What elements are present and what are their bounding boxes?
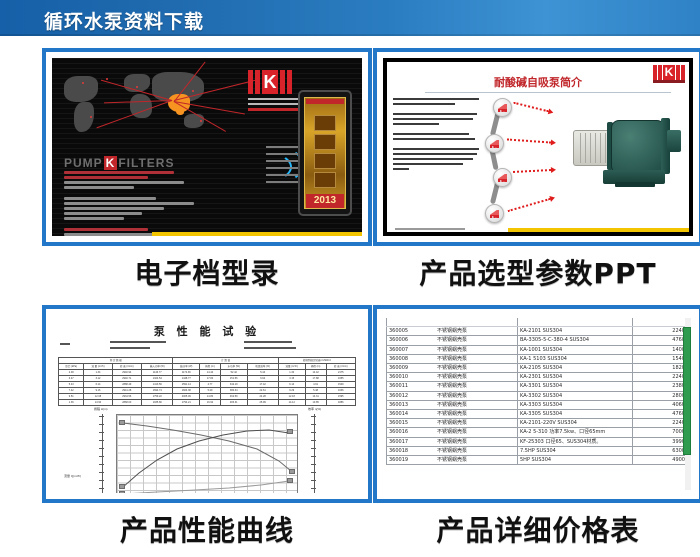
price-table-image: 360005不锈钢蜗壳泵KA-2101 SUS3042240360006不锈钢蜗…: [383, 315, 693, 493]
table-cell: 1935.80: [141, 400, 173, 406]
table-row[interactable]: 360016不锈钢蜗壳泵KA-2 5-310 功率7.5kw、口径65mm700…: [387, 428, 689, 437]
report-meta: [58, 339, 356, 355]
card-frame: 泵 性 能 试 验 测 定 数 据计 算 值转换到规定转速n=2900.0压力 …: [42, 305, 372, 503]
table-row-partial: [387, 318, 689, 327]
page-title: 循环水泵资料下载: [44, 7, 204, 34]
catalog-cover-image: PUMPKFILTERS: [52, 58, 362, 236]
table-cell-model: KA-2101 SUS304: [518, 327, 633, 336]
table-cell-name: 不锈钢蜗壳泵: [435, 437, 518, 446]
table-cell-code: 360016: [387, 428, 436, 437]
step-chain: [483, 98, 513, 228]
table-row[interactable]: 360011不锈钢蜗壳泵KA-3301 SUS3042380: [387, 382, 689, 391]
brand-wordmark: PUMPKFILTERS: [64, 156, 174, 170]
year-badge: 2013: [306, 194, 344, 208]
scrollbar-thumb[interactable]: [683, 327, 691, 455]
table-row[interactable]: 360019不锈钢蜗壳泵5HP SUS3044900: [387, 456, 689, 465]
table-row[interactable]: 360014不锈钢蜗壳泵KA-3305 SUS3044760: [387, 410, 689, 419]
table-cell-code: 360015: [387, 419, 436, 428]
table-cell-code: 360009: [387, 364, 436, 373]
table-cell-code: 360018: [387, 446, 436, 455]
card-frame: 耐酸碱自吸泵简介 K: [373, 48, 700, 246]
table-row[interactable]: 360007不锈钢蜗壳泵KA-1001 SUS3041400: [387, 345, 689, 354]
company-info-block: [64, 171, 214, 236]
table-row: 1.3613.902868.001935.801794.2116.92483.3…: [59, 400, 356, 406]
test-data-table: 测 定 数 据计 算 值转换到规定转速n=2900.0压力 (kPa)流 量 (…: [58, 357, 356, 406]
table-cell-price: 2800: [633, 391, 689, 400]
table-cell-name: 不锈钢蜗壳泵: [435, 373, 518, 382]
table-cell-price: 3990: [633, 437, 689, 446]
card-caption: 产品详细价格表: [373, 509, 700, 549]
table-row[interactable]: 360010不锈钢蜗壳泵KA-2301 SUS3042240: [387, 373, 689, 382]
table-cell-price: 6300: [633, 446, 689, 455]
table-cell-name: 不锈钢蜗壳泵: [435, 456, 518, 465]
card-caption: 产品性能曲线: [42, 509, 372, 549]
table-cell-price: 2240: [633, 327, 689, 336]
table-cell-model: KA-2 5-310 功率7.5kw、口径65mm: [518, 428, 633, 437]
table-row[interactable]: 360012不锈钢蜗壳泵KA-3302 SUS3042800: [387, 391, 689, 400]
table-cell-price: 2240: [633, 419, 689, 428]
table-cell: 483.31: [220, 400, 247, 406]
table-cell-name: 不锈钢蜗壳泵: [435, 391, 518, 400]
card-price-list[interactable]: 360005不锈钢蜗壳泵KA-2101 SUS3042240360006不锈钢蜗…: [373, 305, 700, 557]
card-caption: 产品选型参数PPT: [373, 252, 700, 292]
table-cell: 13.90: [84, 400, 112, 406]
table-row[interactable]: 360005不锈钢蜗壳泵KA-2101 SUS3042240: [387, 327, 689, 336]
callout-arrow: [507, 138, 551, 143]
report-title: 泵 性 能 试 验: [58, 323, 356, 339]
table-cell-code: 360012: [387, 391, 436, 400]
table-cell: 1.36: [59, 400, 84, 406]
card-electronic-catalog[interactable]: PUMPKFILTERS: [42, 48, 372, 300]
table-row[interactable]: 360015不锈钢蜗壳泵KA-2101-220V SUS3042240: [387, 419, 689, 428]
table-cell-name: 不锈钢蜗壳泵: [435, 446, 518, 455]
table-cell-code: 360014: [387, 410, 436, 419]
table-cell-name: 不锈钢蜗壳泵: [435, 345, 518, 354]
gold-banner: 2013: [298, 90, 352, 216]
performance-chart: 扬程 H(m) 效率 η(%) 流量 Q(m³/h): [58, 412, 356, 493]
table-cell-price: 2380: [633, 382, 689, 391]
card-grid: PUMPKFILTERS: [0, 40, 700, 552]
table-cell-price: 4760: [633, 336, 689, 345]
table-cell-model: KA-1 5103 SUS304: [518, 354, 633, 363]
table-cell-price: 1540: [633, 354, 689, 363]
right-axis-label: 效率 η(%): [308, 407, 321, 411]
table-row[interactable]: 360018不锈钢蜗壳泵7.5HP SUS3046300: [387, 446, 689, 455]
table-cell: 1794.21: [173, 400, 200, 406]
table-cell-model: KA-3305 SUS304: [518, 410, 633, 419]
table-cell: 16.92: [200, 400, 221, 406]
curve-plot-area: [116, 414, 298, 493]
table-cell-code: 360017: [387, 437, 436, 446]
k-logo-icon: K: [653, 65, 685, 83]
left-axis-label: 扬程 H(m): [94, 407, 108, 411]
callout-arrow: [508, 198, 551, 212]
table-cell-name: 不锈钢蜗壳泵: [435, 428, 518, 437]
table-cell-price: 4760: [633, 410, 689, 419]
slide-bullet-text: [393, 98, 479, 178]
table-cell-code: 360019: [387, 456, 436, 465]
card-frame: PUMPKFILTERS: [42, 48, 372, 246]
price-table: 360005不锈钢蜗壳泵KA-2101 SUS3042240360006不锈钢蜗…: [386, 318, 689, 465]
table-row[interactable]: 360008不锈钢蜗壳泵KA-1 5103 SUS3041540: [387, 354, 689, 363]
card-frame: 360005不锈钢蜗壳泵KA-2101 SUS3042240360006不锈钢蜗…: [373, 305, 700, 503]
table-header-row: 压力 (kPa)流 量 (m³/h)转 速 (r/min)输入功率 (W)轴功率…: [59, 364, 356, 370]
curve-svg: [117, 415, 297, 493]
callout-arrow: [513, 169, 551, 173]
table-row[interactable]: 360013不锈钢蜗壳泵KA-3303 SUS3044060: [387, 400, 689, 409]
table-cell-name: 不锈钢蜗壳泵: [435, 382, 518, 391]
card-caption: 电子档型录: [42, 252, 372, 292]
table-cell-price: 2240: [633, 373, 689, 382]
table-cell-name: 不锈钢蜗壳泵: [435, 354, 518, 363]
table-cell-model: KA-2301 SUS304: [518, 373, 633, 382]
table-cell-code: 360013: [387, 400, 436, 409]
table-cell: 14.12: [278, 400, 305, 406]
pump-product-image: [567, 114, 685, 192]
chain-node-icon: [485, 204, 504, 223]
table-cell-model: BA-3305-5-C-380-4 SUS304: [518, 336, 633, 345]
performance-report-image: 泵 性 能 试 验 测 定 数 据计 算 值转换到规定转速n=2900.0压力 …: [52, 315, 362, 493]
world-map-graphic: [60, 68, 225, 153]
k-logo-icon: K: [248, 70, 292, 94]
callout-arrow: [513, 102, 548, 113]
table-cell-model: KA-3303 SUS304: [518, 400, 633, 409]
table-cell-price: 4060: [633, 400, 689, 409]
table-cell-code: 360011: [387, 382, 436, 391]
table-cell-name: 不锈钢蜗壳泵: [435, 336, 518, 345]
table-cell-price: 7000: [633, 428, 689, 437]
ppt-slide-image: 耐酸碱自吸泵简介 K: [383, 58, 693, 236]
table-cell-name: 不锈钢蜗壳泵: [435, 419, 518, 428]
table-cell-code: 360006: [387, 336, 436, 345]
table-cell-model: 7.5HP SUS304: [518, 446, 633, 455]
table-row[interactable]: 360006不锈钢蜗壳泵BA-3305-5-C-380-4 SUS3044760: [387, 336, 689, 345]
table-cell: 2868.00: [112, 400, 141, 406]
chain-node-icon: [493, 98, 512, 117]
left-axis: [102, 414, 103, 493]
slide-title: 耐酸碱自吸泵简介: [494, 74, 582, 90]
page-header: 循环水泵资料下载: [0, 0, 700, 36]
table-cell-code: 360005: [387, 327, 436, 336]
card-product-ppt[interactable]: 耐酸碱自吸泵简介 K: [373, 48, 700, 300]
table-cell: 1886: [326, 400, 355, 406]
table-cell-model: KA-3301 SUS304: [518, 382, 633, 391]
table-row[interactable]: 360009不锈钢蜗壳泵KA-2105 SUS3041820: [387, 364, 689, 373]
table-cell-model: KF-25303 口径65、SUS304材质。: [518, 437, 633, 446]
table-cell-code: 360008: [387, 354, 436, 363]
table-cell: 25.99: [247, 400, 278, 406]
table-cell-model: KA-2105 SUS304: [518, 364, 633, 373]
card-performance-curve[interactable]: 泵 性 能 试 验 测 定 数 据计 算 值转换到规定转速n=2900.0压力 …: [42, 305, 372, 557]
table-row[interactable]: 360017不锈钢蜗壳泵KF-25303 口径65、SUS304材质。3990: [387, 437, 689, 446]
table-cell-name: 不锈钢蜗壳泵: [435, 410, 518, 419]
table-cell-name: 不锈钢蜗壳泵: [435, 364, 518, 373]
table-cell: 10.85: [305, 400, 326, 406]
table-cell-model: KA-3302 SUS304: [518, 391, 633, 400]
table-cell-name: 不锈钢蜗壳泵: [435, 327, 518, 336]
chain-node-icon: [493, 168, 512, 187]
table-cell-model: 5HP SUS304: [518, 456, 633, 465]
table-cell-price: 4900: [633, 456, 689, 465]
bottom-axis-label: 流量 Q(m³/h): [64, 474, 81, 478]
table-cell-model: KA-1001 SUS304: [518, 345, 633, 354]
table-cell-code: 360007: [387, 345, 436, 354]
chain-node-icon: [485, 134, 504, 153]
table-cell-name: 不锈钢蜗壳泵: [435, 400, 518, 409]
table-cell-code: 360010: [387, 373, 436, 382]
table-cell-price: 1400: [633, 345, 689, 354]
table-cell-model: KA-2101-220V SUS304: [518, 419, 633, 428]
table-cell-price: 1820: [633, 364, 689, 373]
right-axis: [314, 414, 315, 493]
